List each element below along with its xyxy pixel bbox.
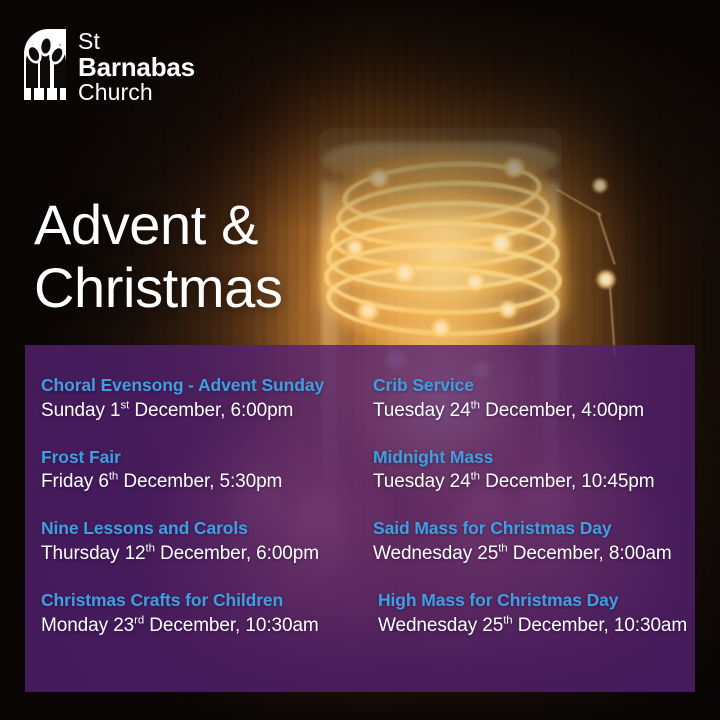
event-date-number: 24 bbox=[450, 471, 471, 492]
event-date-number: 25 bbox=[477, 543, 498, 564]
event-title: High Mass for Christmas Day bbox=[378, 590, 695, 612]
event-day: Wednesday bbox=[373, 543, 472, 564]
event-title: Choral Evensong - Advent Sunday bbox=[41, 375, 360, 397]
event-day: Tuesday bbox=[373, 400, 444, 421]
event-date-number: 12 bbox=[125, 543, 146, 564]
event-ordinal: th bbox=[503, 614, 512, 626]
event-month-time: December, 5:30pm bbox=[118, 471, 282, 492]
event-item[interactable]: Crib Service Tuesday 24th December, 4:00… bbox=[373, 375, 695, 424]
church-window-arch-icon bbox=[22, 28, 68, 100]
event-ordinal: th bbox=[498, 543, 507, 555]
event-datetime: Thursday 12th December, 6:00pm bbox=[41, 542, 360, 567]
event-title: Nine Lessons and Carols bbox=[41, 518, 360, 540]
event-ordinal: th bbox=[109, 471, 118, 483]
event-item[interactable]: Frost Fair Friday 6th December, 5:30pm bbox=[41, 447, 360, 496]
event-datetime: Friday 6th December, 5:30pm bbox=[41, 470, 360, 495]
logo-line-barnabas: Barnabas bbox=[78, 54, 195, 80]
event-ordinal: st bbox=[121, 400, 130, 412]
event-date-number: 25 bbox=[482, 615, 503, 636]
event-ordinal: rd bbox=[134, 614, 144, 626]
event-date-number: 1 bbox=[110, 400, 120, 421]
event-item[interactable]: Said Mass for Christmas Day Wednesday 25… bbox=[373, 518, 695, 567]
events-panel-inner: Choral Evensong - Advent Sunday Sunday 1… bbox=[25, 345, 695, 692]
event-month-time: December, 8:00am bbox=[508, 543, 672, 564]
poster: St Barnabas Church Advent & Christmas Ch… bbox=[0, 0, 720, 720]
event-day: Wednesday bbox=[378, 615, 477, 636]
logo-line-st: St bbox=[78, 30, 195, 53]
event-ordinal: th bbox=[471, 471, 480, 483]
event-month-time: December, 10:30am bbox=[513, 615, 688, 636]
event-item[interactable]: Nine Lessons and Carols Thursday 12th De… bbox=[41, 518, 360, 567]
event-day: Thursday bbox=[41, 543, 119, 564]
page-title: Advent & Christmas bbox=[34, 193, 282, 320]
events-column-right: Crib Service Tuesday 24th December, 4:00… bbox=[360, 375, 695, 638]
event-datetime: Sunday 1st December, 6:00pm bbox=[41, 399, 360, 424]
event-date-number: 6 bbox=[98, 471, 108, 492]
headline-line-2: Christmas bbox=[34, 256, 282, 319]
event-month-time: December, 6:00pm bbox=[155, 543, 319, 564]
headline-line-1: Advent & bbox=[34, 193, 282, 256]
event-date-number: 24 bbox=[450, 400, 471, 421]
event-datetime: Wednesday 25th December, 8:00am bbox=[373, 542, 695, 567]
event-day: Tuesday bbox=[373, 471, 444, 492]
events-column-left: Choral Evensong - Advent Sunday Sunday 1… bbox=[25, 375, 360, 638]
footer-strip bbox=[0, 692, 720, 720]
event-datetime: Wednesday 25th December, 10:30am bbox=[378, 614, 695, 639]
event-month-time: December, 10:30am bbox=[144, 615, 319, 636]
events-columns: Choral Evensong - Advent Sunday Sunday 1… bbox=[25, 375, 695, 638]
events-panel: Choral Evensong - Advent Sunday Sunday 1… bbox=[25, 345, 695, 692]
event-day: Monday bbox=[41, 615, 108, 636]
event-month-time: December, 10:45pm bbox=[480, 471, 655, 492]
logo-line-church: Church bbox=[78, 81, 195, 104]
logo-wordmark: St Barnabas Church bbox=[78, 28, 195, 104]
event-item[interactable]: Midnight Mass Tuesday 24th December, 10:… bbox=[373, 447, 695, 496]
event-title: Midnight Mass bbox=[373, 447, 695, 469]
event-ordinal: th bbox=[146, 543, 155, 555]
event-ordinal: th bbox=[471, 400, 480, 412]
event-item[interactable]: Christmas Crafts for Children Monday 23r… bbox=[41, 590, 360, 639]
event-date-number: 23 bbox=[113, 615, 134, 636]
event-month-time: December, 6:00pm bbox=[129, 400, 293, 421]
event-item[interactable]: Choral Evensong - Advent Sunday Sunday 1… bbox=[41, 375, 360, 424]
event-title: Frost Fair bbox=[41, 447, 360, 469]
event-datetime: Tuesday 24th December, 10:45pm bbox=[373, 470, 695, 495]
event-month-time: December, 4:00pm bbox=[480, 400, 644, 421]
event-title: Christmas Crafts for Children bbox=[41, 590, 360, 612]
event-title: Said Mass for Christmas Day bbox=[373, 518, 695, 540]
logo: St Barnabas Church bbox=[22, 28, 195, 104]
event-day: Sunday bbox=[41, 400, 105, 421]
event-datetime: Tuesday 24th December, 4:00pm bbox=[373, 399, 695, 424]
event-day: Friday bbox=[41, 471, 93, 492]
event-item[interactable]: High Mass for Christmas Day Wednesday 25… bbox=[373, 590, 695, 639]
event-datetime: Monday 23rd December, 10:30am bbox=[41, 614, 360, 639]
event-title: Crib Service bbox=[373, 375, 695, 397]
